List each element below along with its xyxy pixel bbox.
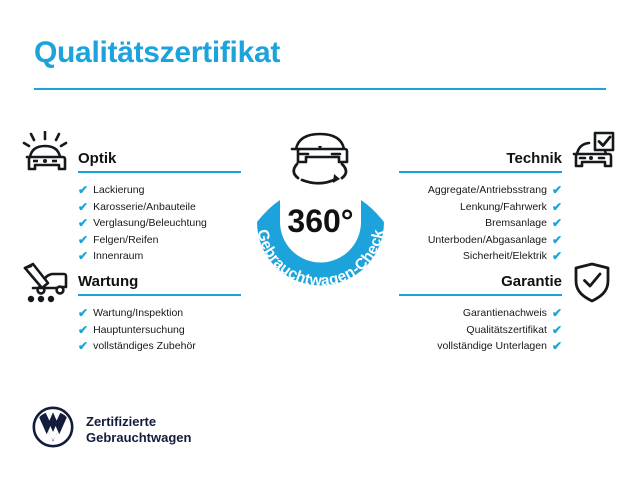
car-checkbox-icon [568,131,616,180]
list-item-label: Felgen/Reifen [93,232,158,249]
section-divider [78,294,241,296]
list-item-label: vollständige Unterlagen [437,338,547,355]
check-icon: ✔ [78,234,88,246]
list-item-label: Sicherheit/Elektrik [463,248,547,265]
volkswagen-logo [32,406,74,453]
footer-brand-text: Zertifizierte Gebrauchtwagen [86,414,191,446]
list-item-label: Karosserie/Anbauteile [93,199,196,216]
list-item: ✔ Karosserie/Anbauteile [78,199,241,216]
checklist: ✔ Lackierung ✔ Karosserie/Anbauteile ✔ V… [78,182,241,265]
check-icon: ✔ [552,340,562,352]
section-divider [399,171,562,173]
section-divider [399,294,562,296]
section-header: Wartung [78,266,241,296]
badge-360-gebrauchtwagen-check: Gebrauchtwagen-Check 360° [237,122,404,312]
car-rotation-icon [292,134,347,183]
shield-check-icon [571,261,613,310]
check-icon: ✔ [552,201,562,213]
list-item-label: Verglasung/Beleuchtung [93,215,207,232]
car-polish-shine-icon [22,131,68,180]
list-item: Aggregate/Antriebsstrang ✔ [399,182,562,199]
check-icon: ✔ [78,217,88,229]
check-icon: ✔ [78,324,88,336]
check-icon: ✔ [552,307,562,319]
list-item-label: Wartung/Inspektion [93,305,183,322]
list-item: vollständige Unterlagen ✔ [399,338,562,355]
section-title: Optik [78,150,116,167]
list-item-label: Hauptuntersuchung [93,322,185,339]
check-icon: ✔ [552,324,562,336]
section-title: Technik [506,150,562,167]
list-item-label: Garantienachweis [463,305,547,322]
list-item: ✔ Felgen/Reifen [78,232,241,249]
list-item: Garantienachweis ✔ [399,305,562,322]
footer-brand: Zertifizierte Gebrauchtwagen [32,406,191,453]
section-wartung: Wartung ✔ Wartung/Inspektion ✔ Hauptunte… [78,266,241,355]
list-item: ✔ Wartung/Inspektion [78,305,241,322]
section-divider [78,171,241,173]
badge-center-label: 360° [287,203,353,239]
list-item-label: Lenkung/Fahrwerk [460,199,547,216]
check-icon: ✔ [78,184,88,196]
check-icon: ✔ [78,340,88,352]
list-item-label: Innenraum [93,248,143,265]
list-item-label: Unterboden/Abgasanlage [428,232,547,249]
section-header: Optik [78,143,241,173]
section-header: Garantie [399,266,562,296]
list-item-label: Aggregate/Antriebsstrang [428,182,547,199]
check-icon: ✔ [78,307,88,319]
header-divider [34,88,606,90]
section-garantie: Garantie Garantienachweis ✔ Qualitätszer… [399,266,562,355]
check-icon: ✔ [552,184,562,196]
list-item: Lenkung/Fahrwerk ✔ [399,199,562,216]
checklist: Aggregate/Antriebsstrang ✔ Lenkung/Fahrw… [399,182,562,265]
list-item: Qualitätszertifikat ✔ [399,322,562,339]
section-technik: Technik Aggregate/Antriebsstrang ✔ Lenku… [399,143,562,265]
list-item: Unterboden/Abgasanlage ✔ [399,232,562,249]
check-icon: ✔ [552,217,562,229]
list-item-label: Qualitätszertifikat [466,322,547,339]
check-icon: ✔ [78,201,88,213]
list-item: Sicherheit/Elektrik ✔ [399,248,562,265]
car-service-log-pencil-icon [22,262,68,311]
list-item: Bremsanlage ✔ [399,215,562,232]
list-item-label: Lackierung [93,182,144,199]
section-title: Garantie [501,273,562,290]
list-item-label: vollständiges Zubehör [93,338,196,355]
list-item-label: Bremsanlage [485,215,547,232]
list-item: ✔ Hauptuntersuchung [78,322,241,339]
check-icon: ✔ [78,250,88,262]
check-icon: ✔ [552,234,562,246]
section-header: Technik [399,143,562,173]
list-item: ✔ Innenraum [78,248,241,265]
checklist: Garantienachweis ✔ Qualitätszertifikat ✔… [399,305,562,355]
section-title: Wartung [78,273,138,290]
check-icon: ✔ [552,250,562,262]
page-title: Qualitätszertifikat [34,36,280,70]
list-item: ✔ Verglasung/Beleuchtung [78,215,241,232]
list-item: ✔ vollständiges Zubehör [78,338,241,355]
checklist: ✔ Wartung/Inspektion ✔ Hauptuntersuchung… [78,305,241,355]
section-optik: Optik ✔ Lackierung ✔ Karosserie/Anbautei… [78,143,241,265]
list-item: ✔ Lackierung [78,182,241,199]
